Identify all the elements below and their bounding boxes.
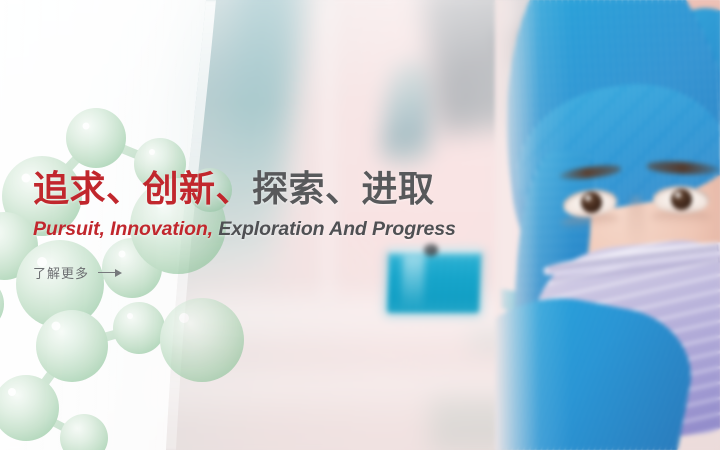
- subtitle-muted: Exploration And Progress: [213, 218, 456, 240]
- scientist-iris-right: [671, 189, 692, 210]
- page-subtitle: Pursuit, Innovation, Exploration And Pro…: [33, 218, 593, 241]
- headline-muted: 探索、进取: [252, 168, 435, 209]
- scientist-undereye-right: [651, 210, 711, 224]
- hero-copy: 追求、创新、探索、进取 Pursuit, Innovation, Explora…: [33, 168, 593, 283]
- hero-banner: 追求、创新、探索、进取 Pursuit, Innovation, Explora…: [0, 0, 720, 450]
- page-title: 追求、创新、探索、进取: [33, 168, 593, 210]
- arrow-right-icon: [98, 268, 122, 278]
- subtitle-accent: Pursuit, Innovation,: [33, 218, 213, 240]
- scientist-nose-shadow: [627, 196, 645, 248]
- learn-more-link[interactable]: 了解更多: [33, 263, 122, 282]
- headline-accent: 追求、创新、: [33, 168, 252, 209]
- learn-more-label: 了解更多: [33, 263, 89, 282]
